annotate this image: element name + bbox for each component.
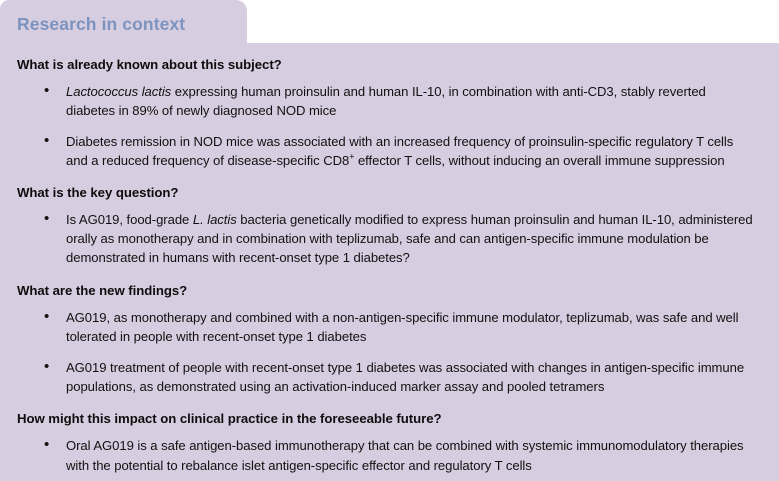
bullet-list: AG019, as monotherapy and combined with … (0, 308, 779, 397)
section-key-question: What is the key question? Is AG019, food… (0, 185, 779, 268)
section-clinical-impact: How might this impact on clinical practi… (0, 411, 779, 475)
spacer (0, 201, 779, 210)
list-item-text-part2: effector T cells, without inducing an ov… (354, 153, 724, 168)
section-already-known: What is already known about this subject… (0, 57, 779, 171)
spacer (0, 396, 779, 411)
list-item: Lactococcus lactis expressing human proi… (0, 82, 779, 121)
section-heading: What is already known about this subject… (0, 57, 779, 73)
section-heading: What is the key question? (0, 185, 779, 201)
spacer (0, 299, 779, 308)
research-in-context-panel: Research in context What is already know… (0, 0, 779, 481)
list-item: AG019, as monotherapy and combined with … (0, 308, 779, 347)
list-item-italic-lead: Lactococcus lactis (66, 84, 171, 99)
section-heading: What are the new findings? (0, 283, 779, 299)
spacer (0, 73, 779, 82)
panel-content: What is already known about this subject… (0, 43, 779, 481)
list-item-italic: L. lactis (193, 212, 237, 227)
panel-tab: Research in context (0, 0, 247, 45)
list-item-text-part1: Is AG019, food-grade (66, 212, 193, 227)
bullet-list: Lactococcus lactis expressing human proi… (0, 82, 779, 171)
list-item: Oral AG019 is a safe antigen-based immun… (0, 436, 779, 475)
list-item: Is AG019, food-grade L. lactis bacteria … (0, 210, 779, 268)
spacer (0, 171, 779, 185)
section-heading: How might this impact on clinical practi… (0, 411, 779, 427)
list-item: AG019 treatment of people with recent-on… (0, 358, 779, 397)
bullet-list: Is AG019, food-grade L. lactis bacteria … (0, 210, 779, 268)
spacer (0, 43, 779, 57)
spacer (0, 427, 779, 436)
section-new-findings: What are the new findings? AG019, as mon… (0, 283, 779, 397)
bullet-list: Oral AG019 is a safe antigen-based immun… (0, 436, 779, 475)
spacer (0, 268, 779, 283)
list-item: Diabetes remission in NOD mice was assoc… (0, 132, 779, 171)
panel-title: Research in context (17, 14, 185, 35)
